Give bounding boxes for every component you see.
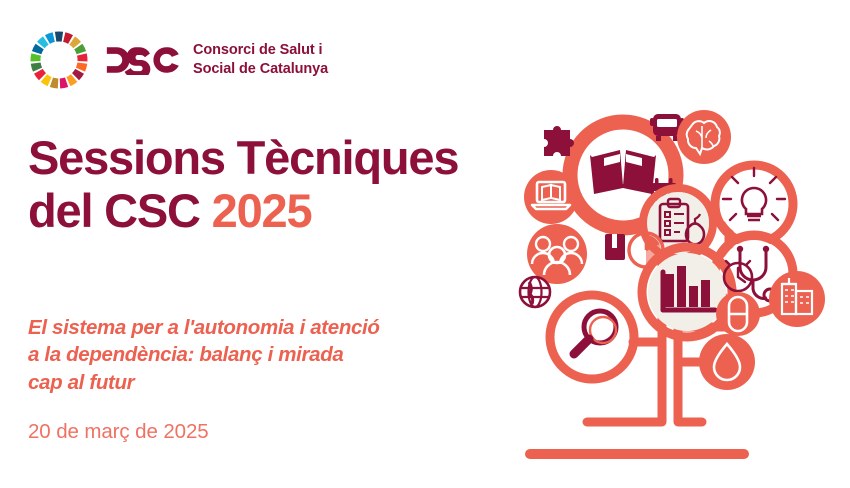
buildings-icon xyxy=(769,271,825,327)
pill-capsule-icon xyxy=(716,292,760,336)
laptop-book-icon xyxy=(524,170,578,224)
title-year: 2025 xyxy=(212,184,312,237)
magnifying-glass-icon xyxy=(550,295,634,379)
title-line-1: Sessions Tècniques xyxy=(28,132,498,185)
brain-icon xyxy=(677,110,731,164)
subtitle: El sistema per a l'autonomia i atenció a… xyxy=(28,314,508,396)
brand-text: Consorci de Salut i Social de Catalunya xyxy=(193,41,328,78)
people-group-icon xyxy=(527,224,587,284)
event-date: 20 de març de 2025 xyxy=(28,420,209,444)
puzzle-piece-icon xyxy=(544,126,574,156)
presentation-slide: Consorci de Salut i Social de Catalunya … xyxy=(0,0,850,488)
sdg-color-wheel-icon xyxy=(28,29,90,91)
knowledge-tree-illustration: .coral { fill:#ec6150; } .coralring { fi… xyxy=(512,92,850,464)
page-title: Sessions Tècniques del CSC 2025 xyxy=(28,132,498,237)
csc-monogram-icon xyxy=(104,45,182,75)
title-line-2-prefix: del CSC xyxy=(28,184,212,237)
csc-lockup: Consorci de Salut i Social de Catalunya xyxy=(104,41,328,78)
water-drop-icon xyxy=(699,334,755,390)
title-line-2: del CSC 2025 xyxy=(28,185,498,238)
closed-book-icon xyxy=(605,234,625,260)
brand-logo-bar: Consorci de Salut i Social de Catalunya xyxy=(28,29,328,91)
globe-icon xyxy=(520,277,550,307)
